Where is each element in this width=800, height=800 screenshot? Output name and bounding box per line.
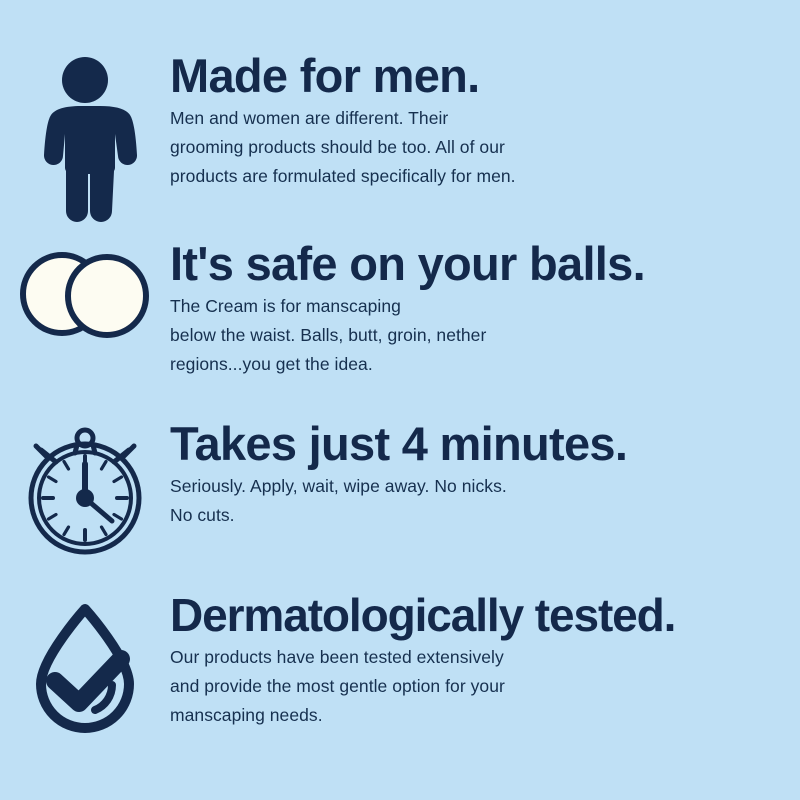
- feature-heading: Dermatologically tested.: [170, 592, 798, 639]
- body-line: and provide the most gentle option for y…: [170, 672, 798, 701]
- text-cell: Dermatologically tested. Our products ha…: [170, 592, 800, 730]
- droplet-checkmark-icon: [25, 596, 145, 736]
- feature-body: Our products have been tested extensivel…: [170, 643, 798, 730]
- body-line: No cuts.: [170, 501, 798, 530]
- feature-row-four-minutes: Takes just 4 minutes. Seriously. Apply, …: [0, 420, 800, 558]
- feature-heading: Takes just 4 minutes.: [170, 420, 798, 468]
- body-line: manscaping needs.: [170, 701, 798, 730]
- text-cell: It's safe on your balls. The Cream is fo…: [170, 240, 800, 379]
- feature-row-derm-tested: Dermatologically tested. Our products ha…: [0, 592, 800, 736]
- body-line: regions...you get the idea.: [170, 350, 798, 379]
- feature-body: The Cream is for manscaping below the wa…: [170, 292, 798, 379]
- feature-row-safe-on-balls: It's safe on your balls. The Cream is fo…: [0, 240, 800, 379]
- body-line: products are formulated specifically for…: [170, 162, 798, 191]
- icon-cell: [0, 420, 170, 558]
- feature-heading: It's safe on your balls.: [170, 240, 798, 288]
- body-line: Men and women are different. Their: [170, 104, 798, 133]
- body-line: The Cream is for manscaping: [170, 292, 798, 321]
- feature-row-made-for-men: Made for men. Men and women are differen…: [0, 52, 800, 226]
- text-cell: Made for men. Men and women are differen…: [170, 52, 800, 191]
- icon-cell: [0, 592, 170, 736]
- body-line: below the waist. Balls, butt, groin, net…: [170, 321, 798, 350]
- infographic-canvas: Made for men. Men and women are differen…: [0, 0, 800, 800]
- body-line: Seriously. Apply, wait, wipe away. No ni…: [170, 472, 798, 501]
- icon-cell: [0, 240, 170, 344]
- icon-cell: [0, 52, 170, 226]
- stopwatch-icon: [18, 424, 152, 558]
- feature-body: Seriously. Apply, wait, wipe away. No ni…: [170, 472, 798, 530]
- text-cell: Takes just 4 minutes. Seriously. Apply, …: [170, 420, 800, 530]
- body-line: grooming products should be too. All of …: [170, 133, 798, 162]
- body-line: Our products have been tested extensivel…: [170, 643, 798, 672]
- feature-heading: Made for men.: [170, 52, 798, 100]
- male-person-icon: [33, 56, 137, 226]
- two-overlapping-circles-icon: [15, 244, 155, 344]
- feature-body: Men and women are different. Their groom…: [170, 104, 798, 191]
